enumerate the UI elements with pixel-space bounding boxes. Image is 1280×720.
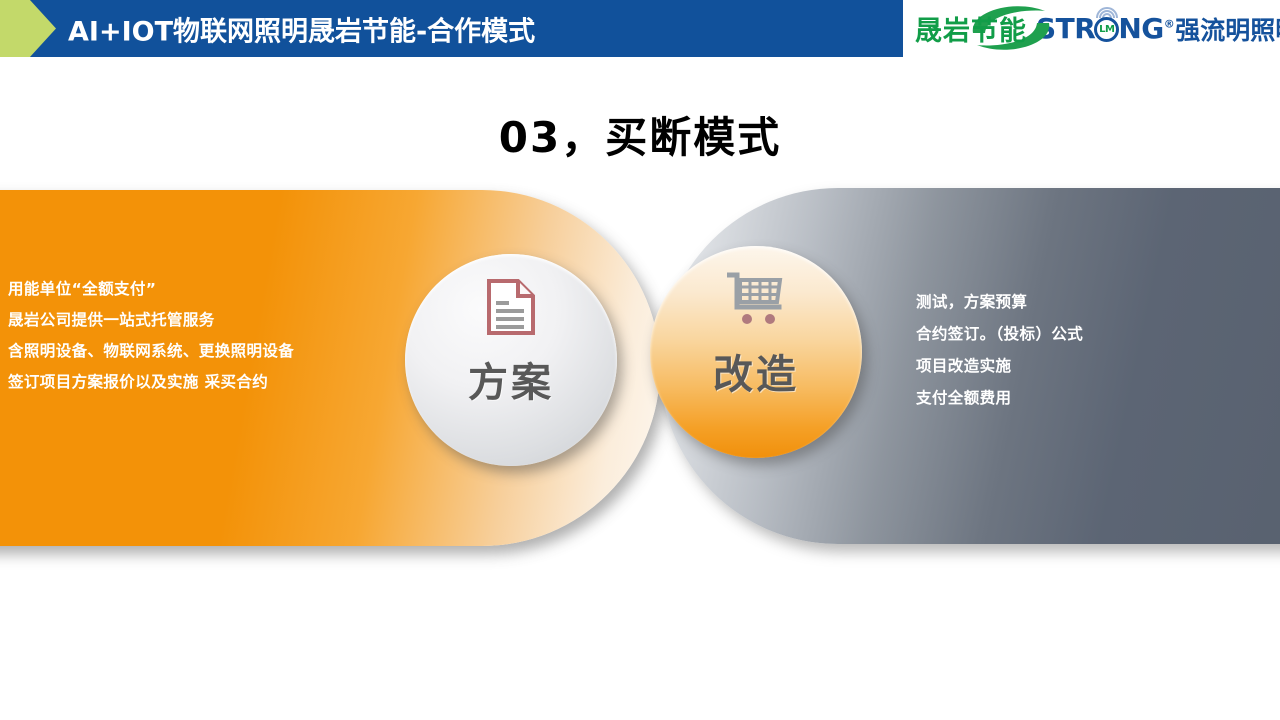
logo-brand-strong: STRLMNG® — [1036, 12, 1174, 45]
plan-circle[interactable]: 方案 — [405, 254, 617, 466]
right-panel-line: 测试，方案预算 — [916, 286, 1216, 318]
buyout-model-diagram: 用能单位“全额支付” 晟岩公司提供一站式托管服务 含照明设备、物联网系统、更换照… — [0, 186, 1280, 566]
left-panel-line: 含照明设备、物联网系统、更换照明设备 — [8, 336, 356, 367]
right-panel-line: 合约签订。（投标）公式 — [916, 318, 1216, 350]
logo-lm-badge-icon: LM — [1094, 17, 1119, 42]
chevron-accent-icon — [0, 0, 56, 57]
slide-title: 03，买断模式 — [0, 104, 1280, 165]
brand-logo: 晟岩节能 STRLMNG® 强流明照明 — [903, 0, 1280, 57]
registered-mark: ® — [1164, 18, 1175, 31]
logo-brand-prefix: STR — [1036, 12, 1095, 45]
right-panel-text-block: 测试，方案预算 合约签订。（投标）公式 项目改造实施 支付全额费用 — [916, 286, 1216, 414]
logo-tagline: 强流明照明 — [1175, 11, 1280, 47]
left-panel-text-block: 用能单位“全额支付” 晟岩公司提供一站式托管服务 含照明设备、物联网系统、更换照… — [8, 274, 356, 398]
right-panel-line: 支付全额费用 — [916, 382, 1216, 414]
header-title: AI+IOT物联网照明晟岩节能-合作模式 — [68, 9, 535, 48]
header-bar: AI+IOT物联网照明晟岩节能-合作模式 晟岩节能 STRLMNG® 强流明照明 — [0, 0, 1280, 57]
right-panel-line: 项目改造实施 — [916, 350, 1216, 382]
logo-lm-text: LM — [1094, 17, 1119, 42]
plan-circle-label: 方案 — [468, 350, 554, 408]
document-icon — [486, 278, 536, 336]
logo-company-name: 晟岩节能 — [915, 9, 1027, 48]
retrofit-circle-label: 改造 — [713, 342, 799, 400]
logo-brand-suffix: NG — [1118, 12, 1163, 45]
left-panel-line: 签订项目方案报价以及实施 采买合约 — [8, 367, 356, 398]
retrofit-circle[interactable]: 改造 — [650, 246, 862, 458]
shopping-cart-icon — [727, 270, 785, 328]
left-panel-line: 用能单位“全额支付” — [8, 274, 356, 305]
left-panel-line: 晟岩公司提供一站式托管服务 — [8, 305, 356, 336]
